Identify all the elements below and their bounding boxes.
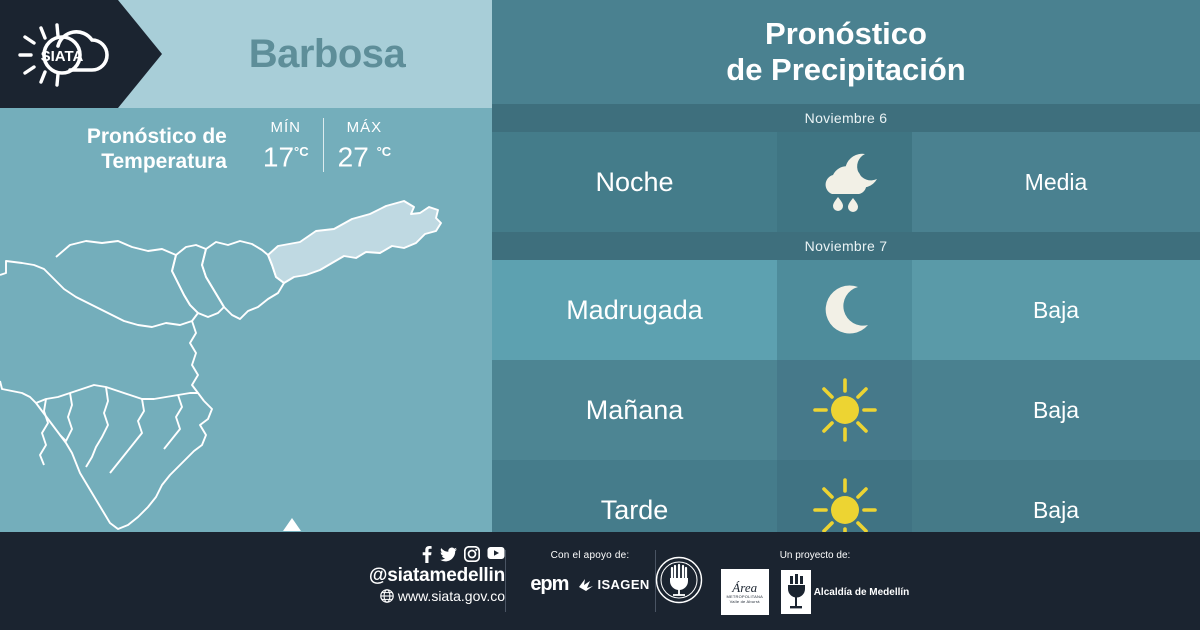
map-internal-boundary-2	[60, 393, 72, 441]
website-url: www.siata.gov.co	[398, 587, 505, 605]
forecast-probability: Media	[912, 132, 1200, 232]
map-region-barbosa	[268, 201, 441, 283]
amva-sub2: Valle de Aburrá	[730, 599, 760, 604]
temperature-min-label: MÍN	[263, 118, 309, 137]
precipitation-panel: Pronóstico de Precipitación Noviembre 6 …	[492, 0, 1200, 532]
support-logos: epm ISAGEN	[515, 573, 665, 596]
social-block: @siatamedellin www.siata.gov.co	[330, 546, 505, 605]
udea-seal-icon	[655, 556, 703, 604]
map-internal-boundary-6	[164, 395, 182, 449]
project-logos: Área METROPOLITANA Valle de Aburrá	[700, 569, 930, 615]
precipitation-title-line1: Pronóstico	[765, 16, 927, 52]
support-caption: Con el apoyo de:	[515, 550, 665, 561]
temperature-values: MÍN 17°C MÁX 27 °C	[249, 118, 405, 172]
siata-logo-text: SIATA	[41, 48, 84, 65]
instagram-icon[interactable]	[464, 546, 480, 562]
alcaldia-label: Alcaldía de Medellín	[814, 587, 910, 598]
footer-divider-1	[505, 550, 506, 612]
facebook-icon[interactable]	[420, 546, 433, 563]
precipitation-title-line2: de Precipitación	[726, 52, 965, 88]
globe-icon	[380, 589, 394, 603]
isagen-mark-icon	[578, 578, 594, 592]
map-svg	[0, 185, 492, 532]
website-line[interactable]: www.siata.gov.co	[330, 587, 505, 605]
project-caption: Un proyecto de:	[700, 550, 930, 561]
forecast-period: Noche	[492, 132, 777, 232]
temperature-min-value: 17°C	[263, 137, 309, 172]
forecast-rows: Noviembre 6 Noche Media Noviembre 7 Madr	[492, 104, 1200, 560]
forecast-period: Madrugada	[492, 260, 777, 360]
temperature-title: Pronóstico de Temperatura	[87, 118, 227, 174]
twitter-icon[interactable]	[440, 546, 457, 563]
forecast-row: Mañana	[492, 360, 1200, 460]
temperature-title-line2: Temperatura	[87, 149, 227, 174]
temperature-panel: SIATA Barbosa Pronóstico de Temperatura …	[0, 0, 492, 532]
temperature-summary: Pronóstico de Temperatura MÍN 17°C MÁX 2…	[0, 118, 492, 190]
map-internal-boundary-4	[110, 399, 144, 473]
forecast-period: Mañana	[492, 360, 777, 460]
weather-forecast-infographic: SIATA Barbosa Pronóstico de Temperatura …	[0, 0, 1200, 630]
map-internal-boundary-3	[86, 387, 108, 467]
sun-cloud-icon: SIATA	[14, 20, 134, 90]
forecast-icon-cell	[777, 360, 912, 460]
moon-icon	[816, 281, 874, 339]
forecast-icon-cell	[777, 132, 912, 232]
social-handle[interactable]: @siatamedellin	[330, 565, 505, 587]
sun-icon	[812, 377, 878, 443]
project-block: Un proyecto de: Área METROPOLITANA Valle…	[700, 550, 930, 615]
isagen-logo: ISAGEN	[578, 577, 649, 592]
temperature-max-label: MÁX	[338, 118, 392, 137]
map-internal-boundary-1	[36, 385, 198, 403]
map-region-copacabana	[172, 245, 224, 317]
temperature-min: MÍN 17°C	[249, 118, 324, 172]
precipitation-title: Pronóstico de Precipitación	[492, 0, 1200, 104]
alcaldia-mark-icon	[781, 570, 811, 614]
forecast-probability: Baja	[912, 260, 1200, 360]
date-separator-first: Noviembre 6	[492, 104, 1200, 132]
aburra-valley-map: N	[0, 185, 492, 532]
map-connector	[190, 321, 204, 401]
forecast-probability: Baja	[912, 360, 1200, 460]
forecast-row: Madrugada Baja	[492, 260, 1200, 360]
youtube-icon[interactable]	[487, 546, 505, 560]
area-metropolitana-logo: Área METROPOLITANA Valle de Aburrá	[721, 569, 769, 615]
footer: @siatamedellin www.siata.gov.co Con el a…	[0, 532, 1200, 630]
forecast-icon-cell	[777, 260, 912, 360]
city-name: Barbosa	[162, 0, 492, 108]
temperature-max: MÁX 27 °C	[324, 118, 406, 172]
support-block: Con el apoyo de: epm ISAGEN	[515, 550, 665, 596]
moon-cloud-rain-icon	[808, 150, 882, 214]
alcaldia-logo: Alcaldía de Medellín	[781, 570, 910, 614]
amva-name: Área	[732, 581, 757, 594]
forecast-row: Noche Media	[492, 132, 1200, 232]
epm-logo: epm	[530, 573, 568, 596]
temperature-max-value: 27 °C	[338, 137, 392, 172]
social-icons	[330, 546, 505, 563]
date-separator-second: Noviembre 7	[492, 232, 1200, 260]
map-region-bello	[0, 241, 198, 327]
temperature-title-line1: Pronóstico de	[87, 124, 227, 149]
